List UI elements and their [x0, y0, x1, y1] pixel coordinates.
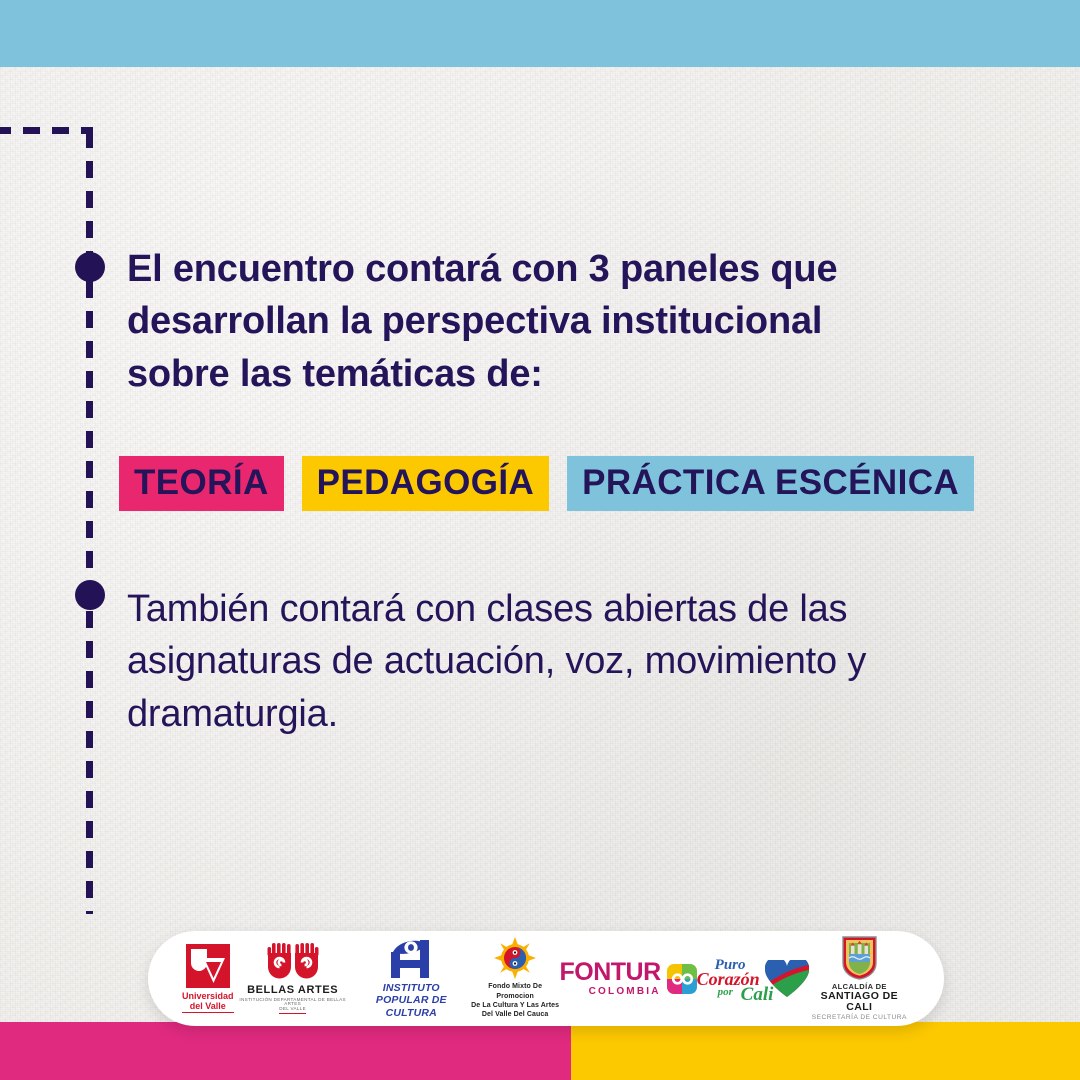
- topic-tag-teoria-label: TEORÍA: [134, 465, 269, 500]
- logo-fontur-colombia: FONTUR COLOMBIA: [560, 960, 697, 997]
- paragraph-panels-line-2: desarrollan la perspectiva institucional: [127, 295, 937, 347]
- instituto-popular-de-cultura-icon: [389, 938, 433, 978]
- fondo-mixto-caption: Fondo Mixto De Promocion De La Cultura Y…: [471, 982, 560, 1020]
- instituto-popular-de-cultura-caption-line-1: INSTITUTO: [352, 982, 471, 995]
- bullet-dot-first: [75, 252, 105, 282]
- paragraph-panels: El encuentro contará con 3 paneles que d…: [127, 243, 937, 400]
- fontur-name: FONTUR: [560, 960, 661, 985]
- instituto-popular-de-cultura-caption-line-2: POPULAR DE CULTURA: [352, 994, 471, 1019]
- fondo-mixto-sun-icon: [494, 937, 536, 979]
- topic-tag-pedagogia: PEDAGOGÍA: [302, 456, 550, 511]
- universidad-del-valle-icon: [186, 944, 230, 988]
- puro-corazon-word-por: por: [718, 987, 733, 998]
- fontur-subtitle: COLOMBIA: [589, 987, 661, 997]
- logo-puro-corazon-por-cali: Puro Corazón por Cali: [697, 957, 809, 1001]
- paragraph-open-classes: También contará con clases abiertas de l…: [127, 583, 937, 740]
- bellas-artes-caption-line-1: BELLAS ARTES: [247, 985, 338, 996]
- topic-tag-list: TEORÍA PEDAGOGÍA PRÁCTICA ESCÉNICA: [119, 456, 974, 511]
- logo-universidad-del-valle: Universidad del Valle: [182, 944, 234, 1013]
- topic-tag-teoria: TEORÍA: [119, 456, 284, 511]
- sponsor-logo-bar: Universidad del Valle: [148, 931, 944, 1026]
- bottom-band-pink: [0, 1022, 571, 1080]
- puro-corazon-lockup: Puro Corazón por Cali: [697, 957, 809, 1001]
- logo-fondo-mixto: Fondo Mixto De Promocion De La Cultura Y…: [471, 937, 560, 1020]
- alcaldia-caption-line-3: SECRETARÍA DE CULTURA: [812, 1015, 907, 1022]
- bellas-artes-hands-icon: [267, 943, 319, 981]
- bullet-dot-second: [75, 580, 105, 610]
- top-color-band: [0, 0, 1080, 67]
- dashed-line-horizontal: [0, 127, 93, 134]
- fontur-wordmark: FONTUR COLOMBIA: [560, 960, 661, 997]
- bottom-color-bands: [0, 1022, 1080, 1080]
- bottom-band-yellow: [571, 1022, 1080, 1080]
- fondo-mixto-caption-line-1: Fondo Mixto De Promocion: [471, 982, 560, 1001]
- paragraph-panels-line-3: sobre las temáticas de:: [127, 348, 937, 400]
- topic-tag-practica-escenica-label: PRÁCTICA ESCÉNICA: [582, 465, 959, 500]
- paper-texture-background: [0, 0, 1080, 1080]
- alcaldia-caption-line-1: ALCALDÍA DE: [832, 983, 887, 991]
- fontur-co-badge-icon: [667, 964, 697, 994]
- topic-tag-practica-escenica: PRÁCTICA ESCÉNICA: [567, 456, 974, 511]
- logo-instituto-popular-de-cultura: INSTITUTO POPULAR DE CULTURA: [352, 938, 471, 1020]
- logo-bellas-artes: BELLAS ARTES INSTITUCIÓN DEPARTAMENTAL D…: [234, 943, 352, 1014]
- fondo-mixto-caption-line-3: Del Valle Del Cauca: [471, 1010, 560, 1019]
- paragraph-open-classes-line-3: dramaturgia.: [127, 688, 937, 740]
- dashed-line-vertical: [86, 131, 93, 914]
- poster-canvas: El encuentro contará con 3 paneles que d…: [0, 0, 1080, 1080]
- universidad-del-valle-caption-line-2: del Valle: [182, 1001, 234, 1011]
- puro-corazon-word-cali: Cali: [741, 985, 774, 1004]
- topic-tag-pedagogia-label: PEDAGOGÍA: [317, 465, 535, 500]
- paragraph-open-classes-line-1: También contará con clases abiertas de l…: [127, 583, 937, 635]
- logo-alcaldia-santiago-de-cali: ALCALDÍA DE SANTIAGO DE CALI SECRETARÍA …: [809, 936, 910, 1022]
- instituto-popular-de-cultura-caption: INSTITUTO POPULAR DE CULTURA: [352, 982, 471, 1020]
- fontur-lockup: FONTUR COLOMBIA: [560, 960, 697, 997]
- bellas-artes-caption-line-3: DEL VALLE: [279, 1007, 306, 1014]
- universidad-del-valle-caption: Universidad del Valle: [182, 991, 234, 1013]
- paragraph-open-classes-line-2: asignaturas de actuación, voz, movimient…: [127, 635, 937, 687]
- universidad-del-valle-caption-line-1: Universidad: [182, 991, 234, 1001]
- alcaldia-caption-line-2: SANTIAGO DE CALI: [809, 991, 910, 1012]
- alcaldia-coat-of-arms-icon: [842, 936, 877, 980]
- puro-corazon-wordmark: Puro Corazón por Cali: [697, 957, 771, 1001]
- paragraph-panels-line-1: El encuentro contará con 3 paneles que: [127, 243, 937, 295]
- fondo-mixto-caption-line-2: De La Cultura Y Las Artes: [471, 1001, 560, 1010]
